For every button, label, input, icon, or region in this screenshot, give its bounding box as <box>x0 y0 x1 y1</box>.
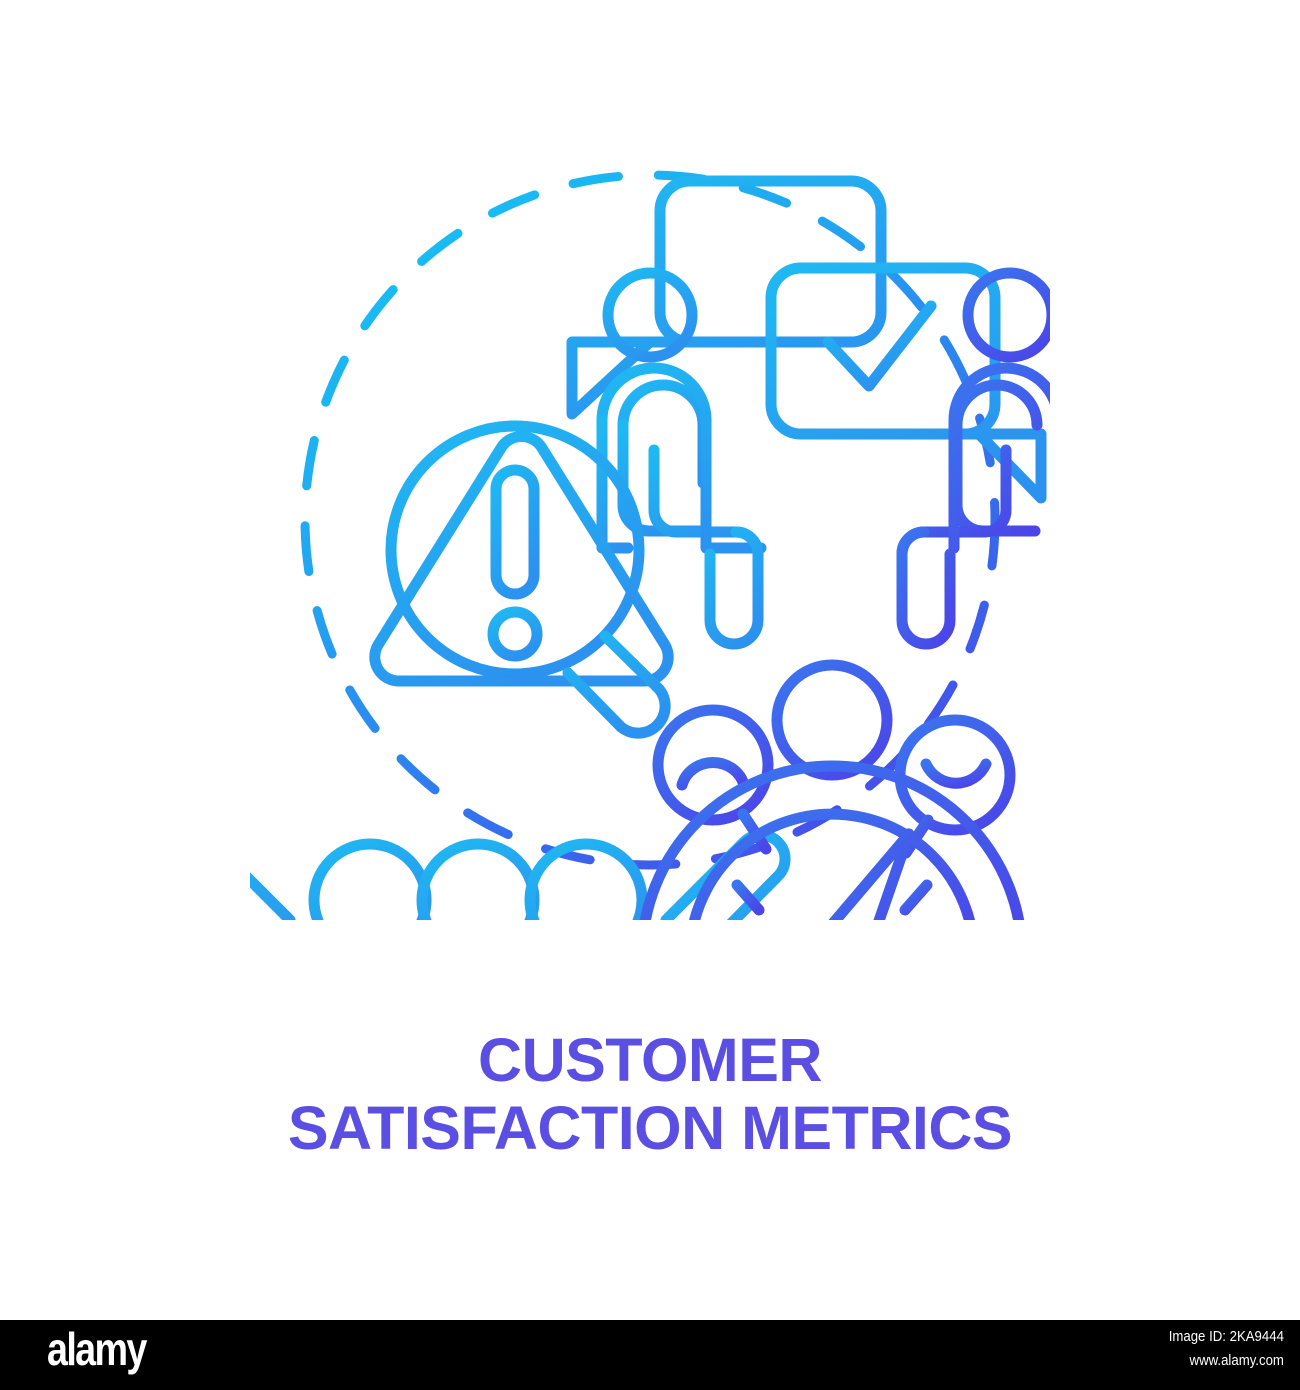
concept-illustration <box>250 120 1050 920</box>
face-neutral-icon <box>777 665 887 775</box>
concept-title: CUSTOMER SATISFACTION METRICS <box>0 1026 1300 1163</box>
title-line-2: SATISFACTION METRICS <box>0 1094 1300 1162</box>
stock-image-card: CUSTOMER SATISFACTION METRICS alamy Imag… <box>0 0 1300 1390</box>
watermark-meta: Image ID: 2KA9444 www.alamy.com <box>1169 1325 1284 1373</box>
title-line-1: CUSTOMER <box>0 1026 1300 1094</box>
meeting-table-icon <box>753 503 907 643</box>
person-right-seated-icon <box>902 273 1050 644</box>
image-id-label: Image ID: 2KA9444 <box>1169 1325 1284 1349</box>
hand-holding-circles-icon <box>314 844 642 920</box>
alamy-logo: alamy <box>47 1326 146 1372</box>
hand-holding-circles-icon <box>250 835 785 920</box>
website-label: www.alamy.com <box>1169 1349 1284 1373</box>
watermark-bar: alamy Image ID: 2KA9444 www.alamy.com <box>0 1320 1300 1390</box>
